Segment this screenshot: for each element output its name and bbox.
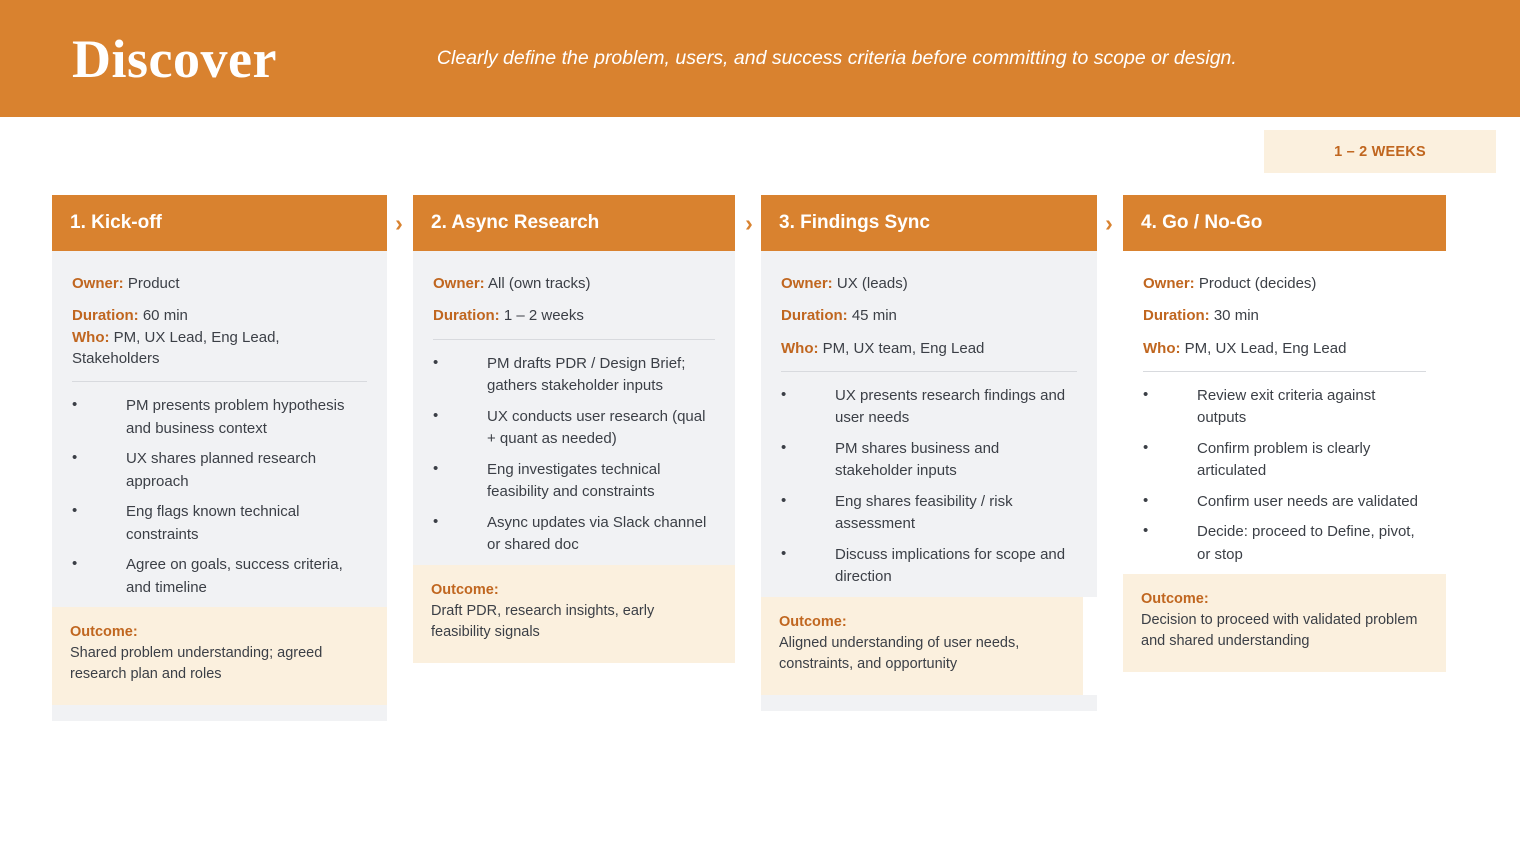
list-item: Eng flags known technical constraints — [72, 501, 367, 546]
list-item: PM presents problem hypothesis and busin… — [72, 395, 367, 440]
chevron-right-icon: › — [1096, 209, 1122, 237]
stage-card-4-body: Owner: Product (decides) Duration: 30 mi… — [1123, 251, 1446, 574]
stage-card-3-body: Owner: UX (leads) Duration: 45 min Who: … — [761, 251, 1097, 597]
owner-value: Product — [128, 275, 180, 292]
who-value: PM, UX team, Eng Lead — [823, 340, 985, 357]
stage-card-4-title: 4. Go / No-Go — [1141, 213, 1262, 234]
list-item: Decide: proceed to Define, pivot, or sto… — [1143, 521, 1426, 566]
list-item: Confirm problem is clearly articulated — [1143, 438, 1426, 483]
owner-label: Owner: — [433, 275, 485, 292]
list-item: PM drafts PDR / Design Brief; gathers st… — [433, 353, 715, 398]
stage-card-3-bullets: UX presents research findings and user n… — [781, 385, 1077, 597]
chevron-right-icon: › — [736, 209, 762, 237]
list-item: Async updates via Slack channel or share… — [433, 512, 715, 557]
duration-label: Duration: — [781, 307, 848, 324]
stage-card-2-body: Owner: All (own tracks) Duration: 1 – 2 … — [413, 251, 735, 565]
stage-card-3-header: 3. Findings Sync — [761, 195, 1097, 251]
outcome-text: Draft PDR, research insights, early feas… — [431, 601, 717, 643]
stage-card-4-outcome: Outcome: Decision to proceed with valida… — [1123, 574, 1446, 672]
header-band: Discover Clearly define the problem, use… — [0, 0, 1520, 117]
stage-card-4[interactable]: 4. Go / No-Go Owner: Product (decides) D… — [1123, 195, 1446, 672]
duration-label: Duration: — [1143, 307, 1210, 324]
stage-card-4-header: 4. Go / No-Go — [1123, 195, 1446, 251]
owner-line: Owner: All (own tracks) — [433, 273, 715, 294]
page-title: Discover — [72, 32, 277, 86]
meta-divider — [1143, 371, 1426, 372]
stage-card-1-foot — [52, 705, 387, 721]
stage-cards-row: 1. Kick-off Owner: Product Duration: 60 … — [52, 195, 1472, 795]
duration-value: 60 min — [143, 307, 188, 324]
who-label: Who: — [1143, 340, 1180, 357]
list-item: Agree on goals, success criteria, and ti… — [72, 554, 367, 599]
list-item: UX conducts user research (qual + quant … — [433, 406, 715, 451]
stage-card-3-title: 3. Findings Sync — [779, 213, 930, 234]
stage-card-1-body: Owner: Product Duration: 60 min Who: PM,… — [52, 251, 387, 607]
duration-value: 30 min — [1214, 307, 1259, 324]
owner-line: Owner: Product — [72, 273, 367, 294]
who-line: Who: PM, UX Lead, Eng Lead, Stakeholders — [72, 327, 367, 370]
stage-card-2-outcome: Outcome: Draft PDR, research insights, e… — [413, 565, 735, 663]
stage-card-1-header: 1. Kick-off — [52, 195, 387, 251]
list-item: Discuss implications for scope and direc… — [781, 544, 1077, 589]
duration-badge: 1 – 2 WEEKS — [1264, 130, 1496, 173]
owner-value: All (own tracks) — [488, 275, 591, 292]
slide-canvas: Discover Clearly define the problem, use… — [0, 0, 1520, 844]
outcome-label: Outcome: — [1141, 589, 1428, 610]
who-label: Who: — [72, 329, 109, 346]
owner-line: Owner: UX (leads) — [781, 273, 1077, 294]
stage-card-1[interactable]: 1. Kick-off Owner: Product Duration: 60 … — [52, 195, 387, 721]
who-value: PM, UX Lead, Eng Lead — [1185, 340, 1347, 357]
owner-label: Owner: — [1143, 275, 1195, 292]
duration-value: 1 – 2 weeks — [504, 307, 584, 324]
owner-label: Owner: — [781, 275, 833, 292]
owner-value: UX (leads) — [837, 275, 908, 292]
owner-line: Owner: Product (decides) — [1143, 273, 1426, 294]
stage-card-3-foot — [761, 695, 1097, 711]
list-item: UX shares planned research approach — [72, 448, 367, 493]
stage-card-3-outcome: Outcome: Aligned understanding of user n… — [761, 597, 1083, 695]
outcome-label: Outcome: — [70, 622, 369, 643]
owner-value: Product (decides) — [1199, 275, 1317, 292]
duration-value: 45 min — [852, 307, 897, 324]
meta-divider — [72, 381, 367, 382]
owner-label: Owner: — [72, 275, 124, 292]
list-item: UX presents research findings and user n… — [781, 385, 1077, 430]
stage-card-2-bullets: PM drafts PDR / Design Brief; gathers st… — [433, 353, 715, 565]
outcome-label: Outcome: — [431, 580, 717, 601]
outcome-text: Aligned understanding of user needs, con… — [779, 633, 1065, 675]
stage-card-2[interactable]: 2. Async Research Owner: All (own tracks… — [413, 195, 735, 663]
outcome-text: Decision to proceed with validated probl… — [1141, 610, 1428, 652]
page-subtitle: Clearly define the problem, users, and s… — [437, 47, 1237, 70]
stage-card-1-title: 1. Kick-off — [70, 213, 162, 234]
chevron-right-icon: › — [386, 209, 412, 237]
list-item: PM shares business and stakeholder input… — [781, 438, 1077, 483]
meta-divider — [433, 339, 715, 340]
stage-card-2-title: 2. Async Research — [431, 213, 599, 234]
stage-card-2-header: 2. Async Research — [413, 195, 735, 251]
stage-card-4-bullets: Review exit criteria against outputs Con… — [1143, 385, 1426, 575]
stage-card-3[interactable]: 3. Findings Sync Owner: UX (leads) Durat… — [761, 195, 1097, 711]
duration-label: Duration: — [72, 307, 139, 324]
list-item: Eng shares feasibility / risk assessment — [781, 491, 1077, 536]
outcome-text: Shared problem understanding; agreed res… — [70, 643, 369, 685]
duration-label: Duration: — [433, 307, 500, 324]
duration-line: Duration: 45 min — [781, 305, 1077, 326]
list-item: Confirm user needs are validated — [1143, 491, 1426, 514]
meta-divider — [781, 371, 1077, 372]
outcome-label: Outcome: — [779, 612, 1065, 633]
duration-line: Duration: 60 min — [72, 305, 367, 326]
who-label: Who: — [781, 340, 818, 357]
stage-card-1-outcome: Outcome: Shared problem understanding; a… — [52, 607, 387, 705]
stage-card-1-bullets: PM presents problem hypothesis and busin… — [72, 395, 367, 607]
list-item: Eng investigates technical feasibility a… — [433, 459, 715, 504]
duration-line: Duration: 30 min — [1143, 305, 1426, 326]
list-item: Review exit criteria against outputs — [1143, 385, 1426, 430]
who-line: Who: PM, UX team, Eng Lead — [781, 338, 1077, 359]
who-line: Who: PM, UX Lead, Eng Lead — [1143, 338, 1426, 359]
duration-line: Duration: 1 – 2 weeks — [433, 305, 715, 326]
duration-badge-label: 1 – 2 WEEKS — [1334, 144, 1426, 160]
